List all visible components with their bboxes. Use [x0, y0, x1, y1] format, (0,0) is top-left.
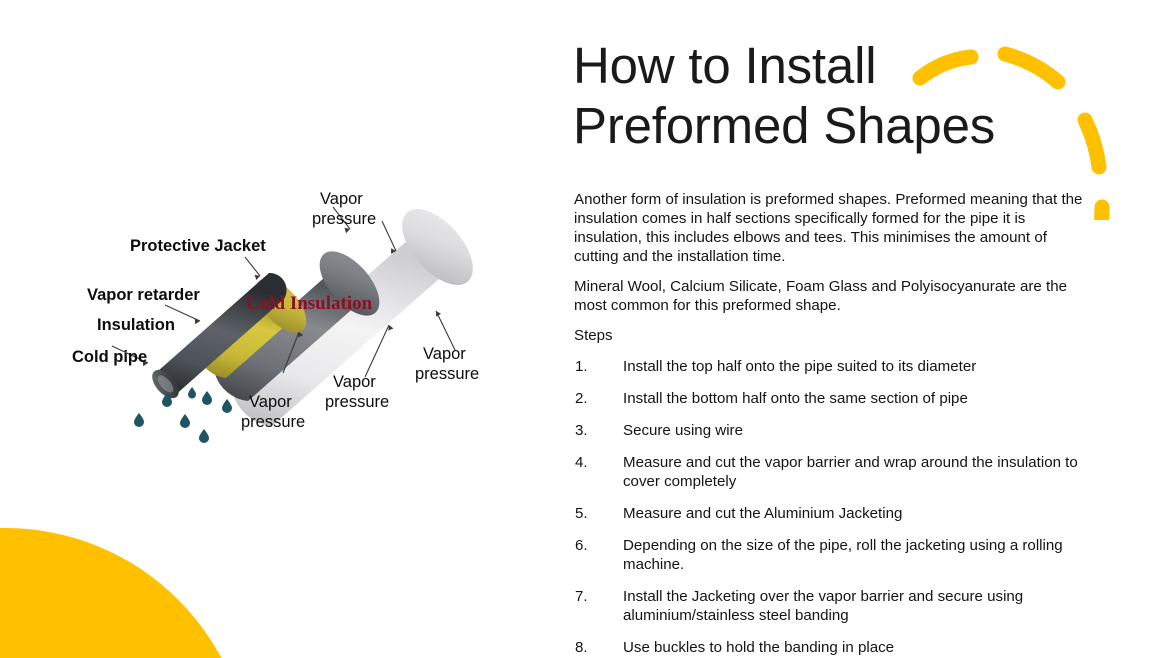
step-number: 6. [575, 536, 588, 555]
droplet [199, 429, 209, 443]
droplet [188, 387, 196, 399]
step-number: 4. [575, 453, 588, 472]
steps-heading: Steps [574, 326, 1090, 345]
step-text: Measure and cut the Aluminium Jacketing [623, 505, 902, 522]
droplet [222, 399, 232, 413]
label-vapor-pressure-bottom-center: Vapor pressure [325, 373, 389, 411]
step-item: 5. Measure and cut the Aluminium Jacketi… [574, 504, 1090, 523]
leader-vapor-pressure-top [382, 221, 396, 251]
step-number: 2. [575, 389, 588, 408]
step-item: 6. Depending on the size of the pipe, ro… [574, 536, 1090, 574]
step-item: 8. Use buckles to hold the banding in pl… [574, 638, 1090, 657]
svg-text:Vapor: Vapor [333, 373, 376, 391]
label-vapor-pressure-top: Vapor pressure [312, 190, 376, 228]
steps-list: 1. Install the top half onto the pipe su… [574, 357, 1090, 658]
step-text: Install the top half onto the pipe suite… [623, 358, 976, 375]
step-number: 5. [575, 504, 588, 523]
droplet [134, 413, 144, 427]
step-number: 7. [575, 587, 588, 606]
droplet [202, 391, 212, 405]
step-text: Install the Jacketing over the vapor bar… [623, 588, 1023, 624]
step-number: 8. [575, 638, 588, 657]
step-number: 3. [575, 421, 588, 440]
step-text: Use buckles to hold the banding in place [623, 639, 894, 656]
svg-text:Vapor: Vapor [249, 393, 292, 411]
slide-title: How to Install Preformed Shapes [573, 36, 1093, 156]
slide-body: Another form of insulation is preformed … [574, 190, 1090, 658]
step-text: Depending on the size of the pipe, roll … [623, 537, 1063, 573]
step-item: 4. Measure and cut the vapor barrier and… [574, 453, 1090, 491]
materials-paragraph: Mineral Wool, Calcium Silicate, Foam Gla… [574, 277, 1090, 315]
svg-text:Vapor: Vapor [423, 345, 466, 363]
step-text: Secure using wire [623, 422, 743, 439]
cold-insulation-pipe-diagram: Protective Jacket Vapor retarder Insulat… [55, 175, 555, 450]
leader-vapor-retarder [245, 257, 260, 276]
svg-text:Vapor: Vapor [320, 190, 363, 208]
step-number: 1. [575, 357, 588, 376]
label-cold-pipe: Cold pipe [72, 348, 147, 366]
step-text: Measure and cut the vapor barrier and wr… [623, 454, 1078, 490]
label-cold-insulation: Cold Insulation [246, 293, 373, 314]
step-item: 2. Install the bottom half onto the same… [574, 389, 1090, 408]
label-vapor-retarder: Vapor retarder [87, 286, 200, 304]
label-protective-jacket: Protective Jacket [130, 237, 266, 255]
step-item: 3. Secure using wire [574, 421, 1090, 440]
arc-segment-4 [1099, 207, 1102, 220]
droplet [180, 414, 190, 428]
step-text: Install the bottom half onto the same se… [623, 390, 968, 407]
condensation-droplets [134, 387, 232, 443]
label-insulation: Insulation [97, 316, 175, 334]
svg-text:pressure: pressure [325, 393, 389, 411]
slide-canvas: How to Install Preformed Shapes Another … [0, 0, 1173, 658]
step-item: 7. Install the Jacketing over the vapor … [574, 587, 1090, 625]
label-vapor-pressure-right: Vapor pressure [415, 345, 479, 383]
yellow-corner-circle-decoration [0, 528, 250, 658]
intro-paragraph: Another form of insulation is preformed … [574, 190, 1090, 266]
step-item: 1. Install the top half onto the pipe su… [574, 357, 1090, 376]
svg-text:pressure: pressure [312, 210, 376, 228]
svg-text:pressure: pressure [415, 365, 479, 383]
svg-text:pressure: pressure [241, 413, 305, 431]
